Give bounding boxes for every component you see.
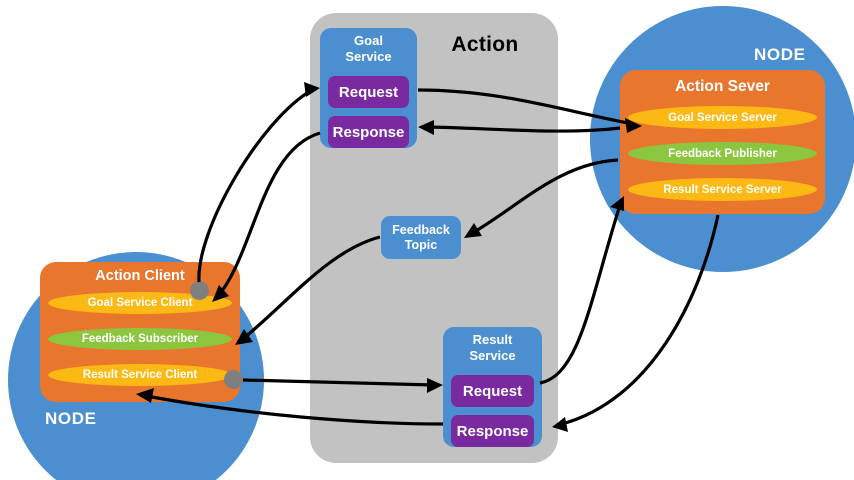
arrow-resultresponse-to-resultclient bbox=[136, 388, 443, 424]
arrow-layer bbox=[0, 0, 854, 480]
arrow-resultrequest-to-resultserver bbox=[540, 196, 624, 383]
arrow-resultclient-to-resultrequest bbox=[243, 378, 443, 393]
arrow-resultserver-to-resultresponse bbox=[552, 215, 718, 432]
arrow-goalclient-to-goalrequest bbox=[199, 82, 320, 282]
arrow-goalserver-to-goalresponse bbox=[418, 120, 620, 135]
arrow-goalresponse-to-goalclient bbox=[212, 133, 320, 302]
arrow-feedbackpublisher-to-feedbacktopic bbox=[464, 160, 618, 238]
arrow-feedbacktopic-to-feedbacksubscriber bbox=[235, 237, 380, 345]
diagram-canvas: Action NODE Action Client Goal Service C… bbox=[0, 0, 854, 480]
